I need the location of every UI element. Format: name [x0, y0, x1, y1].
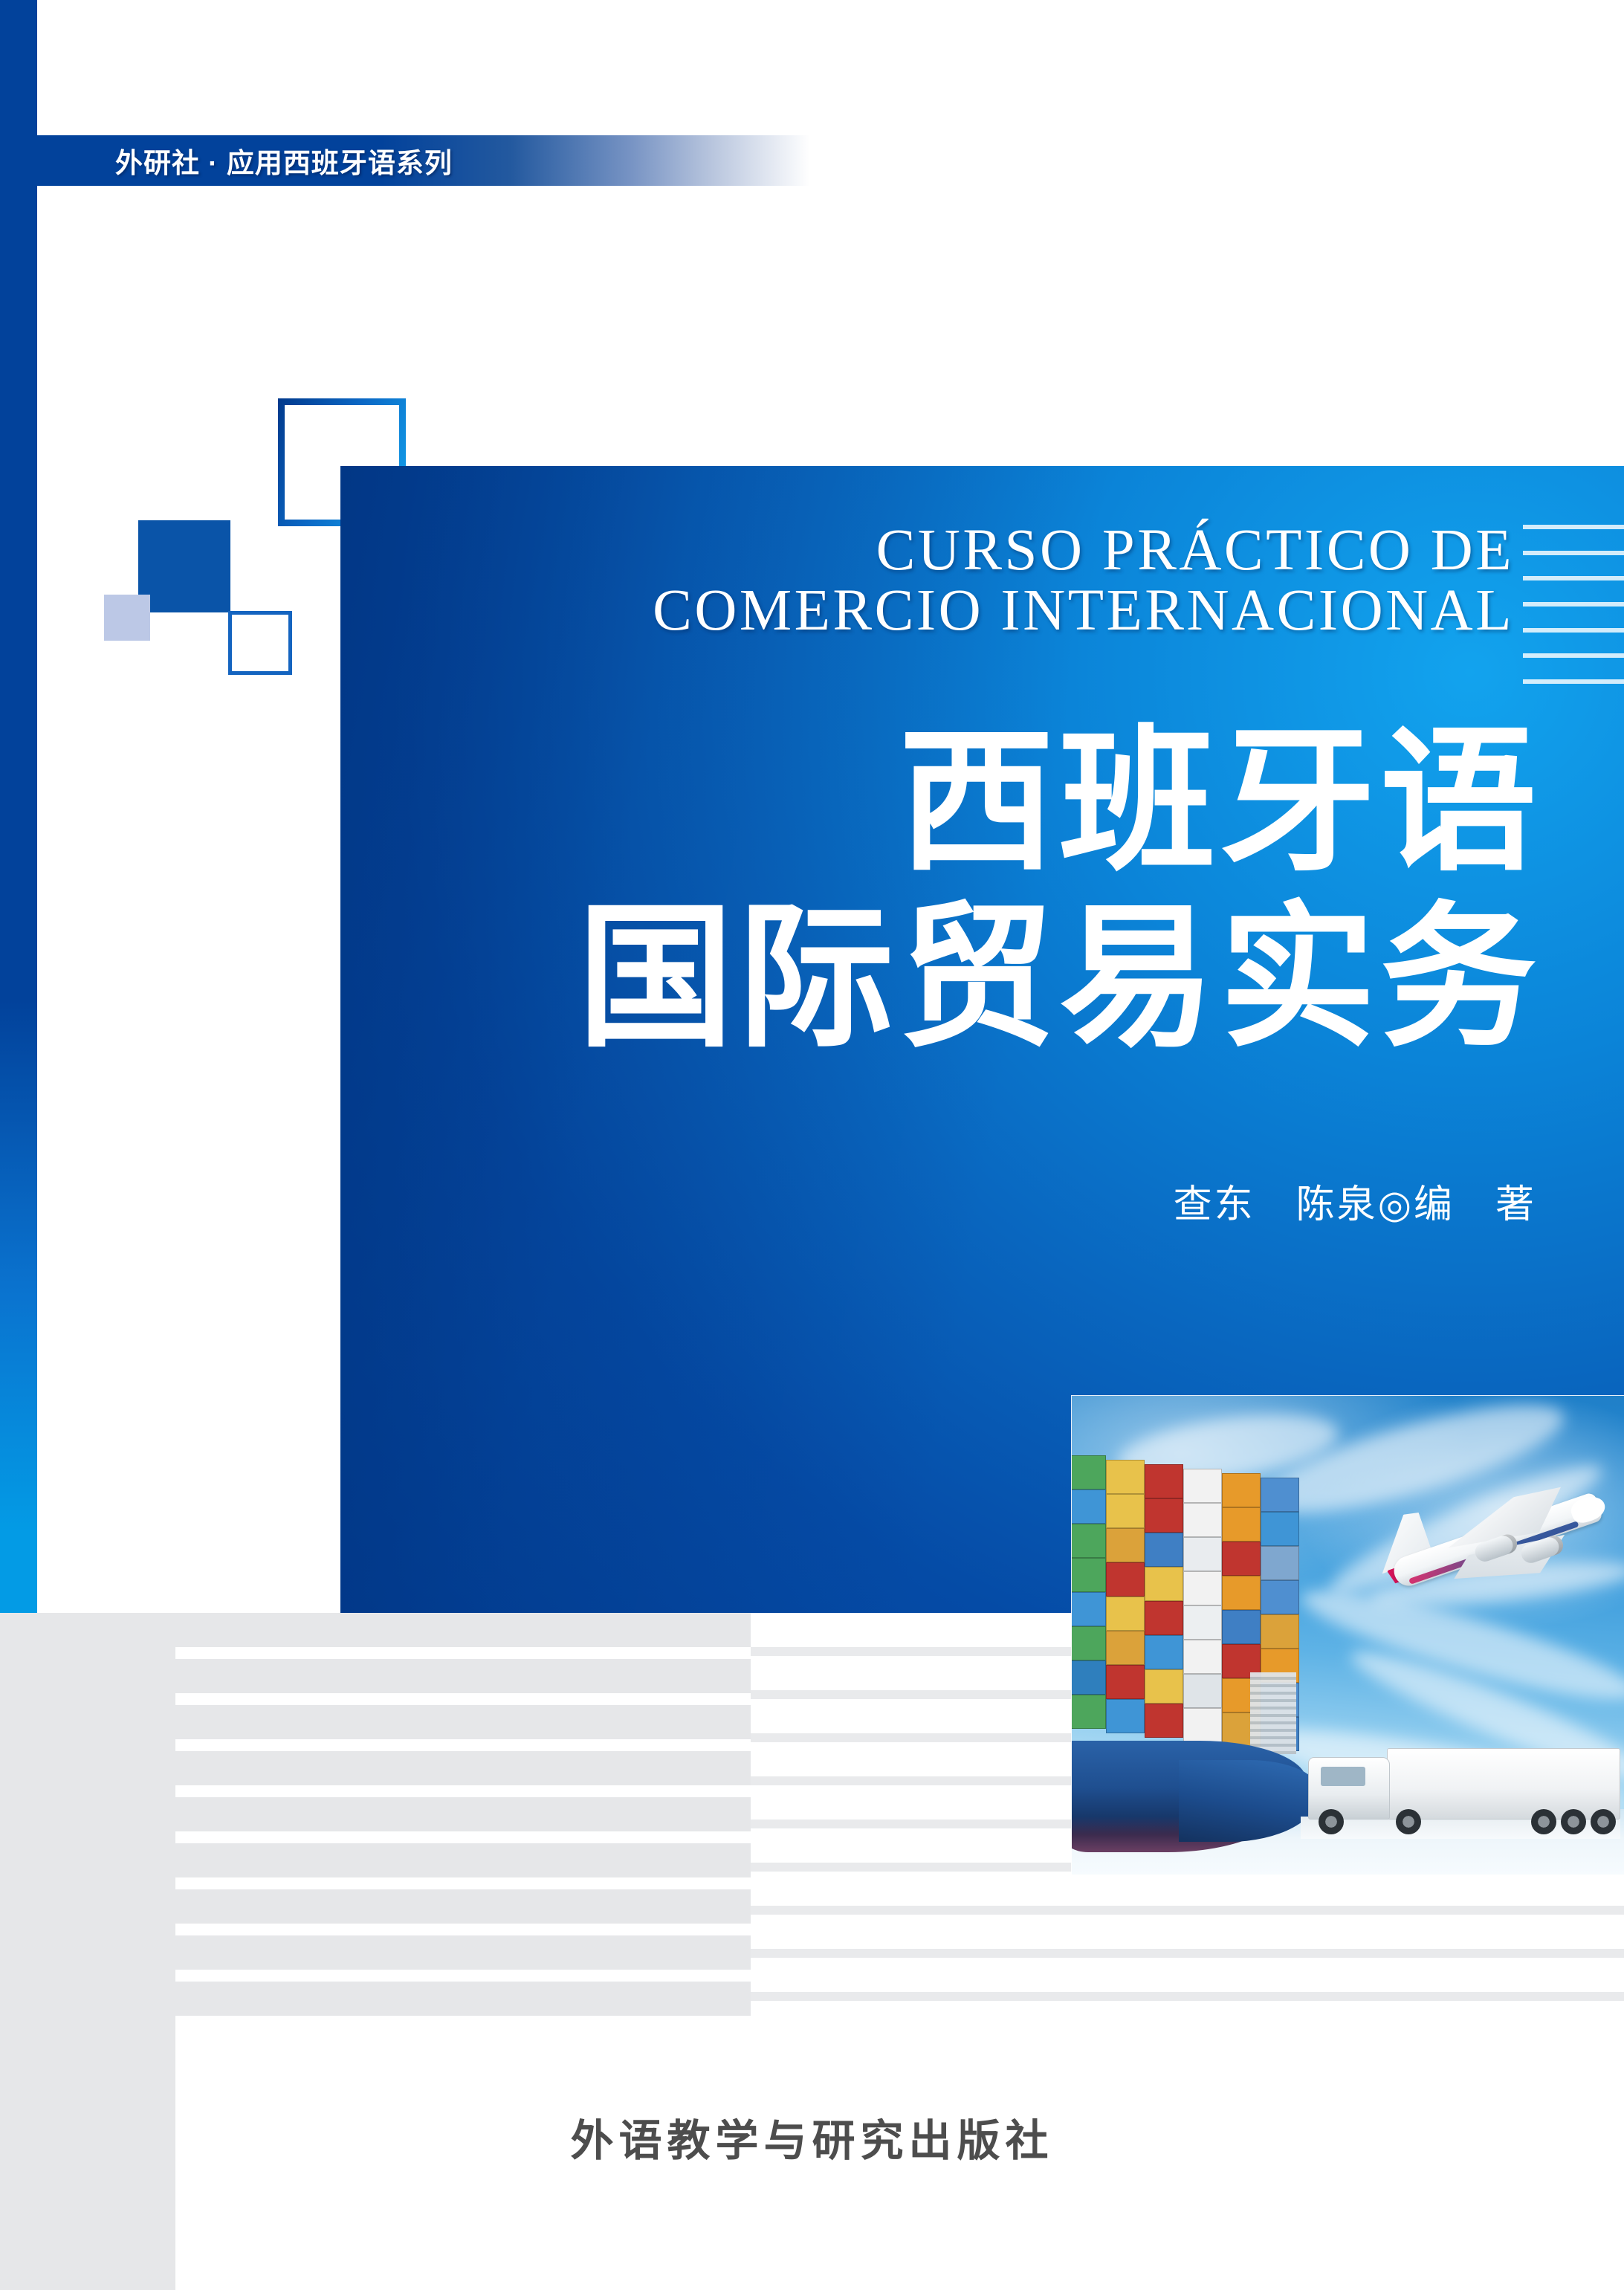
truck-wheel — [1591, 1809, 1616, 1834]
container-ship — [1072, 1440, 1313, 1854]
shipping-container — [1072, 1695, 1106, 1729]
shipping-container — [1222, 1610, 1261, 1644]
shipping-container — [1145, 1635, 1183, 1669]
chinese-title: 西班牙语 国际贸易实务 — [416, 714, 1541, 1067]
left-brand-bar — [0, 0, 37, 1613]
shipping-container — [1072, 1558, 1106, 1592]
shipping-container — [1183, 1469, 1222, 1503]
shipping-container — [1106, 1562, 1145, 1597]
shipping-container — [1222, 1473, 1261, 1507]
truck-windshield — [1321, 1767, 1365, 1786]
shipping-container — [1106, 1631, 1145, 1665]
shipping-container — [1145, 1704, 1183, 1738]
shipping-container — [1183, 1640, 1222, 1674]
decorative-rule-stack — [1523, 525, 1624, 684]
book-cover: 外研社 · 应用西班牙语系列 CURSO PRÁCTICO DE COMERCI… — [0, 0, 1624, 2290]
shipping-container — [1072, 1524, 1106, 1558]
truck-wheel — [1319, 1809, 1344, 1834]
shipping-container — [1145, 1464, 1183, 1498]
shipping-container — [1222, 1542, 1261, 1576]
truck-cab — [1308, 1757, 1390, 1820]
truck-wheel — [1561, 1809, 1586, 1834]
shipping-container — [1145, 1498, 1183, 1533]
shipping-container — [1261, 1512, 1299, 1546]
decor-rule — [1523, 551, 1624, 555]
decor-rule — [1523, 679, 1624, 684]
publisher-name: 外语教学与研究出版社 — [0, 2106, 1624, 2168]
series-banner: 外研社 · 应用西班牙语系列 — [0, 135, 810, 186]
port-crane — [1250, 1672, 1296, 1754]
truck-trailer — [1387, 1748, 1620, 1820]
shipping-container — [1072, 1626, 1106, 1660]
shipping-container — [1072, 1490, 1106, 1524]
decor-rule — [1523, 576, 1624, 580]
shipping-container — [1261, 1478, 1299, 1512]
spanish-title-line-2: COMERCIO INTERNACIONAL — [386, 580, 1514, 641]
decor-rule — [1523, 525, 1624, 529]
shipping-container — [1183, 1708, 1222, 1742]
shipping-container — [1072, 1660, 1106, 1695]
shipping-container — [1145, 1669, 1183, 1704]
truck-wheel — [1396, 1809, 1421, 1834]
shipping-container — [1072, 1455, 1106, 1490]
small-outlined-square-decor — [228, 611, 292, 675]
ship-bow — [1179, 1760, 1320, 1842]
shipping-container — [1222, 1507, 1261, 1542]
decor-rule — [1523, 602, 1624, 607]
shipping-container — [1106, 1494, 1145, 1528]
light-periwinkle-square-decor — [104, 595, 150, 641]
shipping-container — [1145, 1533, 1183, 1567]
shipping-container — [1106, 1528, 1145, 1562]
spanish-title: CURSO PRÁCTICO DE COMERCIO INTERNACIONAL — [386, 520, 1514, 641]
shipping-container — [1183, 1537, 1222, 1571]
truck-wheel — [1531, 1809, 1556, 1834]
chinese-title-line-1: 西班牙语 — [416, 714, 1541, 890]
left-gray-column — [0, 1613, 175, 2290]
shipping-container — [1183, 1605, 1222, 1640]
shipping-container — [1106, 1597, 1145, 1631]
series-label: 外研社 · 应用西班牙语系列 — [115, 140, 453, 181]
chinese-title-line-2: 国际贸易实务 — [416, 890, 1541, 1066]
shipping-container — [1072, 1592, 1106, 1626]
spanish-title-line-1: CURSO PRÁCTICO DE — [876, 518, 1514, 583]
author-line: 查东 陈泉◎编 著 — [1174, 1173, 1536, 1229]
shipping-container — [1106, 1699, 1145, 1733]
filled-mid-blue-square-decor — [138, 520, 230, 612]
decor-rule — [1523, 653, 1624, 658]
shipping-container — [1222, 1576, 1261, 1610]
shipping-container — [1183, 1503, 1222, 1537]
shipping-container — [1261, 1614, 1299, 1649]
delivery-truck — [1301, 1741, 1620, 1839]
shipping-container — [1183, 1571, 1222, 1605]
shipping-container — [1183, 1674, 1222, 1708]
shipping-container — [1145, 1601, 1183, 1635]
shipping-container — [1261, 1546, 1299, 1580]
shipping-container — [1106, 1665, 1145, 1699]
shipping-container — [1261, 1580, 1299, 1614]
shipping-container — [1145, 1567, 1183, 1601]
decor-rule — [1523, 628, 1624, 633]
logistics-photo — [1072, 1396, 1624, 1875]
shipping-container — [1106, 1460, 1145, 1494]
